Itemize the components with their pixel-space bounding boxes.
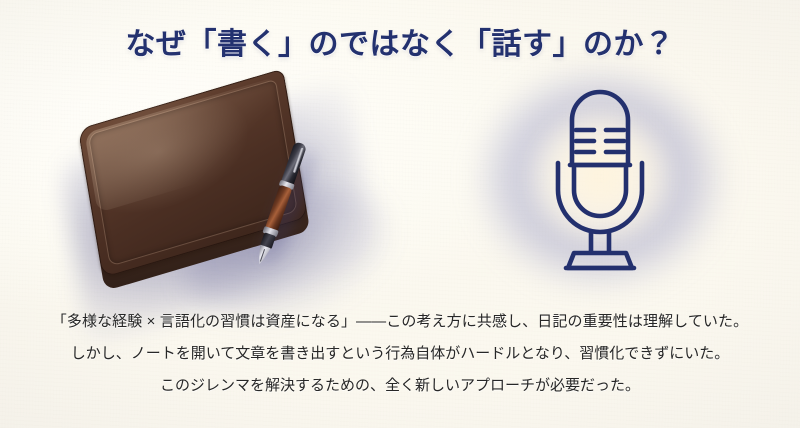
body-paragraph: 「多様な経験 × 言語化の習慣は資産になる」——この考え方に共感し、日記の重要性… [0, 306, 800, 402]
microphone-illustration [470, 62, 730, 294]
slide-canvas: なぜ「書く」のではなく「話す」のか？ [0, 0, 800, 428]
notebook-leather-sheen [85, 77, 290, 213]
vintage-microphone-icon [470, 62, 730, 294]
body-line-3: このジレンマを解決するための、全く新しいアプローチが必要だった。 [0, 370, 800, 402]
page-title: なぜ「書く」のではなく「話す」のか？ [0, 19, 800, 63]
notebook-illustration [60, 70, 390, 290]
body-line-1: 「多様な経験 × 言語化の習慣は資産になる」——この考え方に共感し、日記の重要性… [0, 306, 800, 338]
body-line-2: しかし、ノートを開いて文章を書き出すという行為自体がハードルとなり、習慣化できず… [0, 338, 800, 370]
